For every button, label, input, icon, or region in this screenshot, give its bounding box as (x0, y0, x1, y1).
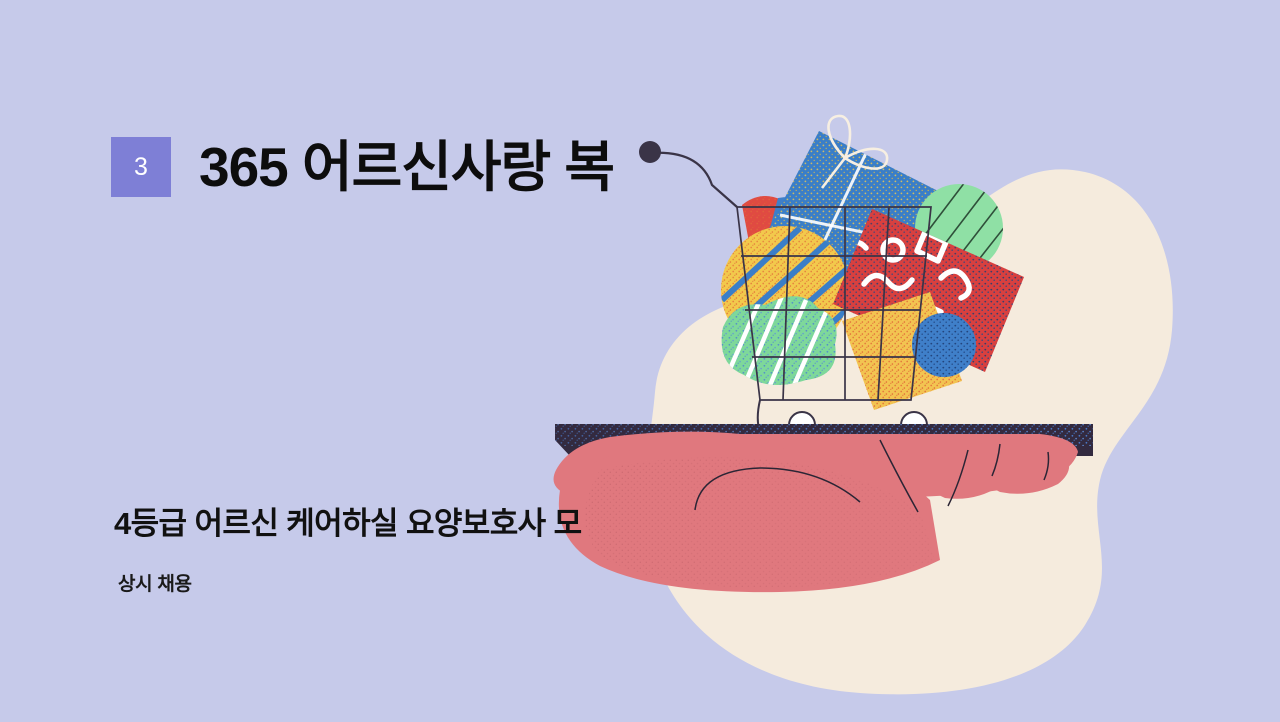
page-title: 365 어르신사랑 복 (199, 140, 614, 195)
job-title: 4등급 어르신 케어하실 요양보호사 모 (114, 508, 582, 539)
headline-row: 3 365 어르신사랑 복 (111, 137, 614, 197)
status-badge: 상시 채용 (118, 575, 192, 594)
rank-badge: 3 (111, 137, 171, 197)
job-posting-card: 3 365 어르신사랑 복 4등급 어르신 케어하실 요양보호사 모 상시 채용 (0, 0, 1280, 722)
text-layer: 3 365 어르신사랑 복 4등급 어르신 케어하실 요양보호사 모 상시 채용 (0, 0, 1280, 722)
